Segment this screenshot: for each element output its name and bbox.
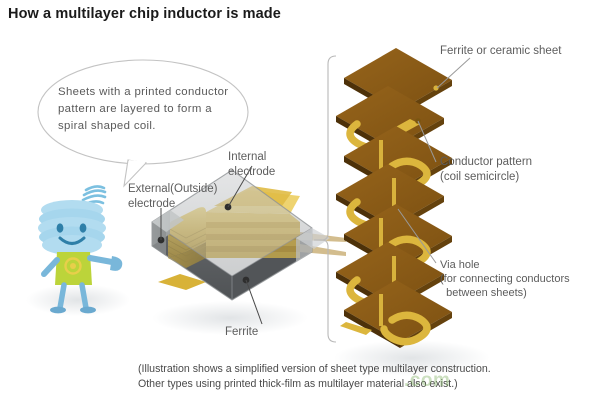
leader-sheet (437, 58, 470, 88)
speech-bubble-text: Sheets with a printed conductor pattern … (58, 84, 233, 135)
mascot-foot-right (80, 307, 96, 314)
sheet-stack (336, 48, 452, 348)
mascot-arm-left (44, 260, 57, 274)
mascot-head (38, 200, 106, 255)
figure-caption: (Illustration shows a simplified version… (138, 362, 568, 392)
label-ferrite: Ferrite (225, 325, 258, 340)
illustration-canvas: How a multilayer chip inductor is made (0, 0, 600, 408)
stack-bracket (314, 56, 336, 342)
speech-bubble-container: Sheets with a printed conductor pattern … (36, 58, 251, 168)
mascot-foot-left (50, 307, 66, 314)
mascot-floor-shadow (26, 284, 130, 316)
label-ferrite-or-ceramic-sheet: Ferrite or ceramic sheet (440, 44, 561, 59)
label-external-electrode: External(Outside) electrode (128, 182, 217, 211)
label-via-hole: Via hole (for connecting conductors betw… (440, 258, 570, 300)
mascot-arm-right (90, 258, 112, 262)
mascot-eye-left (57, 223, 64, 232)
sheet-layer-7 (340, 280, 452, 348)
label-internal-electrode: Internal electrode (228, 150, 275, 179)
label-conductor-pattern: Conductor pattern (coil semicircle) (440, 155, 532, 184)
mascot-eye-right (80, 223, 87, 232)
via-hole-1 (433, 85, 438, 90)
mascot-hand-right (110, 256, 122, 271)
